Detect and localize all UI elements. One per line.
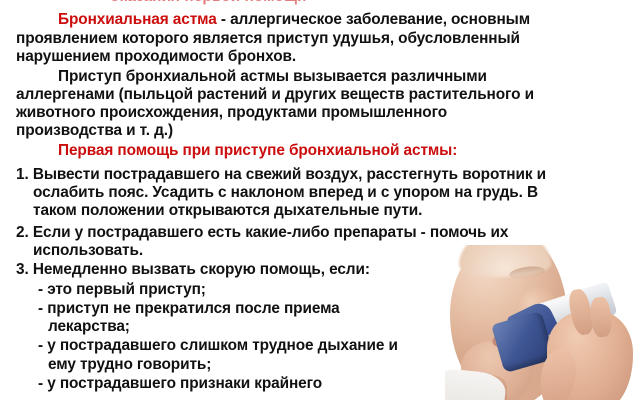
sub-item-3-cont: ему трудно говорить;: [48, 356, 211, 375]
intro-line-2: проявлением которого является приступ уд…: [16, 30, 520, 49]
sub-item-4: - у пострадавшего признаки крайнего: [38, 375, 322, 394]
paragraph2-line-4: производства и т. д.): [16, 122, 173, 141]
poster-canvas: оказания первой помощи Бронхиальная астм…: [0, 0, 640, 400]
sub-item-1: - это первый приступ;: [38, 281, 206, 300]
term-bronchial-asthma: Бронхиальная астма: [58, 11, 217, 28]
step-2-line-1: 2. Если у пострадавшего есть какие-либо …: [16, 224, 508, 243]
step-2-number: 2.: [16, 224, 29, 241]
first-aid-heading: Первая помощь при приступе бронхиальной …: [58, 142, 457, 161]
step-1-line-2: ослабить пояс. Усадить с наклоном вперед…: [33, 184, 538, 203]
inhaler-photo: [445, 245, 640, 400]
sub-item-2-cont: лекарства;: [48, 318, 130, 337]
inhaler-photo-image: [445, 245, 640, 400]
sub-item-2: - приступ не прекратился после приема: [38, 300, 340, 319]
step-3-text-1: Немедленно вызвать скорую помощь, если:: [33, 261, 370, 278]
step-3-number: 3.: [16, 261, 29, 278]
intro-line-3: нарушением проходимости бронхов.: [16, 48, 296, 67]
paragraph2-line-3: животного происхождения, продуктами пром…: [16, 104, 447, 123]
paragraph2-line-1: Приступ бронхиальной астмы вызывается ра…: [58, 68, 487, 87]
step-3-line-1: 3. Немедленно вызвать скорую помощь, есл…: [16, 261, 370, 280]
cut-off-top-line: оказания первой помощи: [110, 0, 306, 6]
step-1-number: 1.: [16, 166, 29, 183]
step-1-line-1: 1. Вывести пострадавшего на свежий возду…: [16, 166, 546, 185]
sub-item-3: - у пострадавшего слишком трудное дыхани…: [38, 337, 398, 356]
step-2-text-1: Если у пострадавшего есть какие-либо пре…: [33, 224, 509, 241]
step-1-text-1: Вывести пострадавшего на свежий воздух, …: [33, 166, 546, 183]
paragraph2-line-2: аллергенами (пыльцой растений и других в…: [16, 86, 534, 105]
step-2-line-2: использовать.: [33, 242, 143, 261]
cut-off-bottom-clip: - у пострадавшего признаки крайнего: [0, 373, 445, 400]
intro-line-1-rest: - аллергическое заболевание, основным: [217, 11, 530, 28]
step-1-line-3: таком положении открываются дыхательные …: [33, 202, 422, 221]
cut-off-top-line-clip: оказания первой помощи: [0, 0, 640, 9]
intro-line-1: Бронхиальная астма - аллергическое забол…: [58, 11, 530, 30]
